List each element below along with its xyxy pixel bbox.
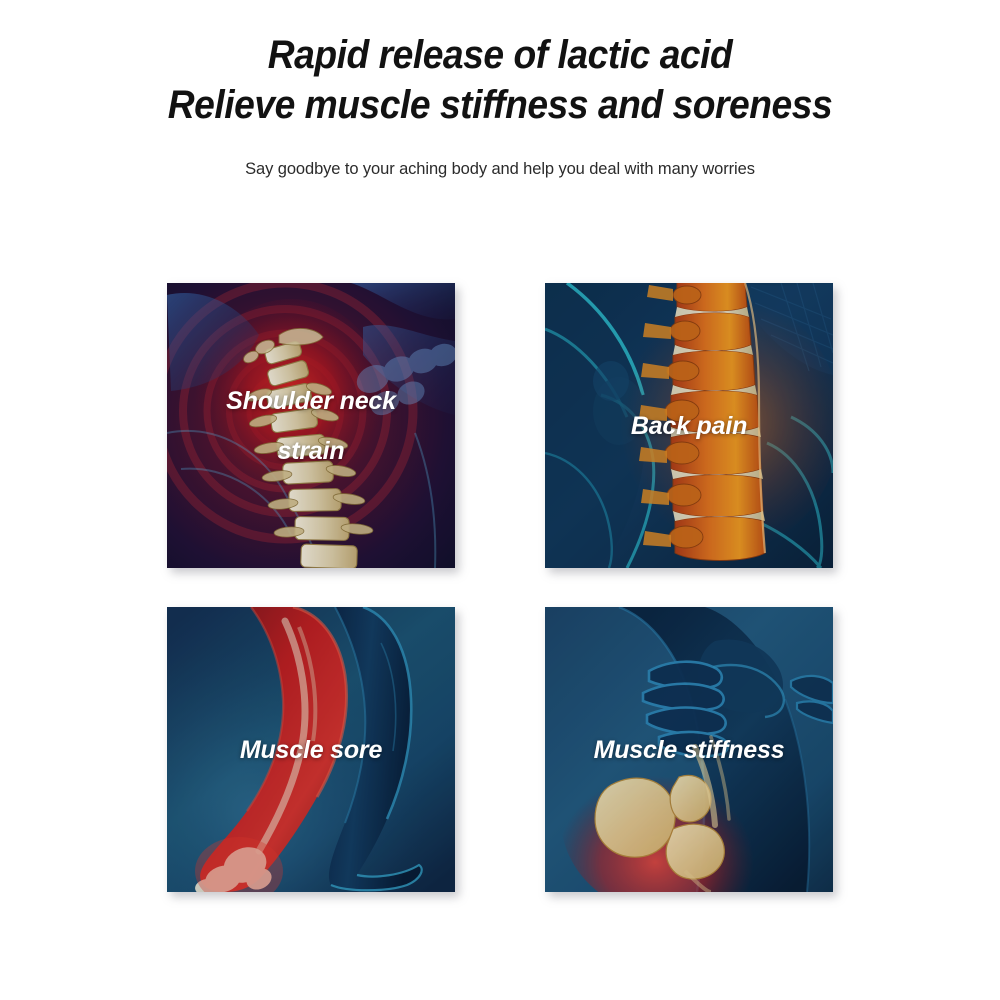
promo-page: Rapid release of lactic acid Relieve mus…	[0, 0, 1000, 1000]
symptom-card-shoulder-neck-strain[interactable]: Shoulder neck strain	[167, 283, 455, 568]
symptom-card-label-muscle-sore: Muscle sore	[167, 726, 455, 774]
symptom-card-label-line-2: strain	[179, 426, 443, 476]
symptom-card-muscle-sore[interactable]: Muscle sore	[167, 607, 455, 892]
symptom-card-grid: Shoulder neck strain	[167, 283, 833, 892]
symptom-card-label-back-pain: Back pain	[545, 402, 833, 450]
header: Rapid release of lactic acid Relieve mus…	[0, 30, 1000, 179]
symptom-card-label-shoulder-neck-strain: Shoulder neck strain	[167, 376, 455, 476]
symptom-card-label-line-1: Shoulder neck	[179, 376, 443, 426]
headline-line-1: Rapid release of lactic acid	[35, 30, 965, 80]
subtitle: Say goodbye to your aching body and help…	[0, 160, 1000, 179]
symptom-card-label-muscle-stiffness: Muscle stiffness	[545, 726, 833, 774]
symptom-card-back-pain[interactable]: Back pain	[545, 283, 833, 568]
headline-line-2: Relieve muscle stiffness and soreness	[35, 80, 965, 130]
symptom-card-muscle-stiffness[interactable]: Muscle stiffness	[545, 607, 833, 892]
